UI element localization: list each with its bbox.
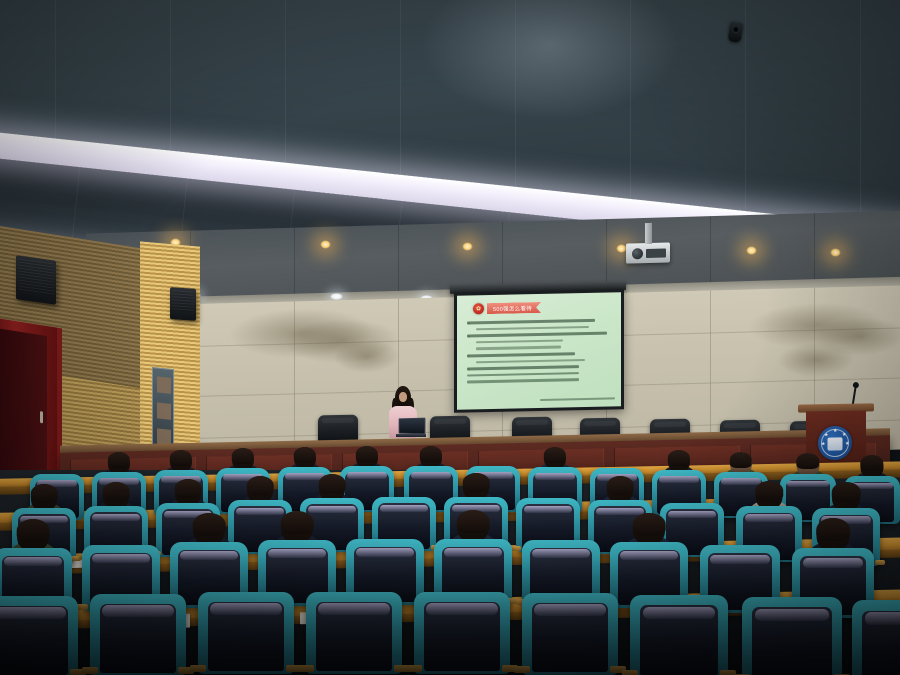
chair-highlight <box>180 551 238 560</box>
chair-highlight <box>535 473 575 479</box>
audience-member-hair <box>463 473 490 492</box>
soffit-downlight-warm <box>830 248 841 257</box>
laptop-screen <box>399 418 426 435</box>
chair-highlight <box>380 505 427 513</box>
audience-chair[interactable] <box>522 593 618 675</box>
slide-title-group: ✿ 500强怎么看待 <box>473 302 541 314</box>
audience-member-hair <box>281 511 314 534</box>
audience-member-hair <box>294 447 316 463</box>
ceiling-projector <box>626 242 670 263</box>
slide-title-banner: 500强怎么看待 <box>487 302 541 314</box>
projection-screen: ✿ 500强怎么看待 <box>454 289 624 413</box>
chair-highlight <box>102 605 173 616</box>
slide-text-line <box>467 372 579 377</box>
audience-member-hair <box>755 481 783 500</box>
slide-text-line <box>467 365 579 370</box>
projector-body <box>646 249 666 259</box>
chair-highlight <box>865 612 900 624</box>
slide-body-text <box>467 318 613 387</box>
wall-speaker-left <box>16 255 56 305</box>
audience-member-hair <box>668 450 690 466</box>
audience-member-hair <box>103 482 130 501</box>
audience-chair[interactable] <box>742 597 842 675</box>
chair-highlight <box>659 476 699 482</box>
audience-member-hair <box>607 476 634 495</box>
projector-lens-icon <box>632 248 643 259</box>
chair-highlight <box>0 607 66 618</box>
audience-chair[interactable] <box>630 595 728 675</box>
chair-highlight <box>4 557 62 566</box>
audience-member-hair <box>193 513 226 536</box>
wall-tile-seam <box>710 290 711 454</box>
soffit-downlight-warm <box>320 240 331 249</box>
slide-text-line <box>476 359 585 364</box>
presenter-laptop[interactable] <box>396 418 426 437</box>
soffit-seam <box>398 225 399 299</box>
slide-text-line <box>476 326 589 331</box>
slide-bullet-icon <box>468 355 470 357</box>
slide-text-line <box>467 378 579 383</box>
chair-armrest <box>875 560 886 565</box>
chair-highlight <box>347 472 387 478</box>
audience-chair[interactable] <box>852 600 900 675</box>
audience-member-hair <box>730 452 752 468</box>
soffit-downlight-warm <box>746 246 757 255</box>
lecture-hall-photo: ✿ 500强怎么看待 ★ ★ ★ ★ ★ <box>0 0 900 675</box>
slide-text-line <box>476 339 563 343</box>
wall-stain <box>776 341 856 379</box>
slide-text-line <box>467 332 607 338</box>
audience-chair[interactable] <box>0 596 78 675</box>
soffit-downlight-warm <box>462 242 473 251</box>
soffit-seam <box>710 216 711 290</box>
audience-chair[interactable] <box>414 592 510 674</box>
chair-highlight <box>710 555 769 565</box>
audience-chair[interactable] <box>306 592 402 674</box>
chair-armrest <box>298 665 313 672</box>
chair-highlight <box>755 609 829 621</box>
chair-armrest <box>622 670 638 675</box>
chair-highlight <box>534 604 605 615</box>
slide-bullet-icon <box>468 335 470 337</box>
audience-member-hair <box>796 453 819 470</box>
chair-highlight <box>524 506 571 514</box>
chair-armrest <box>190 665 205 672</box>
chair-highlight <box>745 514 794 522</box>
audience-member-hair <box>420 446 442 462</box>
slide-logo-icon: ✿ <box>473 303 484 314</box>
audience-member-hair <box>633 513 666 536</box>
audience-member-hair <box>544 447 566 463</box>
chair-highlight <box>620 551 678 560</box>
chair-highlight <box>444 548 502 557</box>
door-handle-icon[interactable] <box>40 411 43 423</box>
wall-speaker-center <box>170 287 196 321</box>
chair-armrest <box>406 665 421 672</box>
chair-highlight <box>643 607 716 619</box>
slide-bullet-icon <box>468 368 470 370</box>
chair-highlight <box>268 549 326 558</box>
audience-chair[interactable] <box>198 592 294 674</box>
soffit-seam <box>814 213 815 287</box>
chair-highlight <box>803 558 864 568</box>
chair-highlight <box>532 549 590 558</box>
slide: ✿ 500强怎么看待 <box>457 292 621 409</box>
audience-member-hair <box>232 448 254 464</box>
slide-signature-line <box>540 397 615 401</box>
chair-highlight <box>236 508 283 516</box>
laptop-base <box>396 434 426 437</box>
chair-highlight <box>92 514 139 522</box>
audience-member-hair <box>247 476 274 495</box>
presenter-face <box>399 392 407 402</box>
audience-member-hair <box>170 450 192 466</box>
chair-armrest <box>511 546 521 551</box>
slide-bullet-icon <box>468 322 470 324</box>
chair-highlight <box>92 554 150 563</box>
audience-member-hair <box>175 479 202 498</box>
audience-member-hair <box>860 455 883 472</box>
chair-highlight <box>318 603 389 614</box>
slide-text-line <box>467 352 575 357</box>
audience-member-hair <box>832 482 861 502</box>
chair-highlight <box>426 603 497 614</box>
audience-member-hair <box>108 452 130 468</box>
chair-armrest <box>82 667 97 674</box>
audience-member-hair <box>816 518 850 542</box>
audience-member-hair <box>457 510 490 533</box>
wall-stain <box>332 339 402 375</box>
chair-armrest <box>514 666 529 673</box>
ceiling-glow <box>420 0 680 120</box>
audience-chair[interactable] <box>90 594 186 675</box>
executive-chair[interactable] <box>318 415 358 442</box>
chair-highlight <box>308 506 355 514</box>
audience-member-hair <box>31 484 58 503</box>
chair-highlight <box>787 481 828 488</box>
audience-member-hair <box>356 446 378 462</box>
chair-highlight <box>210 603 281 614</box>
chair-highlight <box>668 511 715 519</box>
audience-member-hair <box>319 474 346 493</box>
chair-highlight <box>411 472 451 478</box>
audience-member-hair <box>17 519 50 542</box>
slide-text-line <box>467 319 595 324</box>
soffit-seam <box>294 228 295 302</box>
chair-highlight <box>356 548 414 557</box>
slide-text-line <box>476 346 561 350</box>
